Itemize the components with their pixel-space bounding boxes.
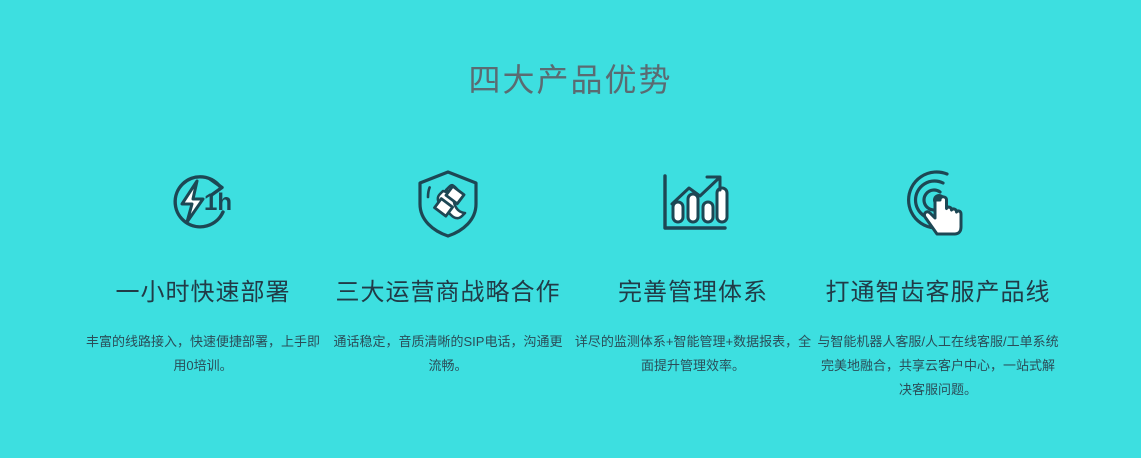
feature-title: 完善管理体系 — [618, 276, 768, 310]
feature-card-carrier-partnership[interactable]: 三大运营商战略合作 通话稳定，音质清晰的SIP电话，沟通更流畅。 — [326, 160, 571, 378]
touch-click-icon — [897, 160, 979, 248]
feature-title: 三大运营商战略合作 — [336, 276, 561, 310]
fast-deploy-icon-label: 1h — [204, 189, 232, 216]
page-title: 四大产品优势 — [0, 58, 1141, 102]
feature-title: 打通智齿客服产品线 — [826, 276, 1051, 310]
feature-description: 丰富的线路接入，快速便捷部署，上手即用0培训。 — [83, 330, 323, 378]
fast-deploy-icon: 1h — [161, 160, 245, 248]
bar-chart-growth-icon — [653, 160, 733, 248]
feature-card-fast-deploy[interactable]: 1h 一小时快速部署 丰富的线路接入，快速便捷部署，上手即用0培训。 — [81, 160, 326, 378]
product-advantages-section: 四大产品优势 1h 一小时快速部署 丰富的线路接入，快速便捷部署，上手即用0培训… — [0, 0, 1141, 458]
feature-description: 与智能机器人客服/人工在线客服/工单系统完美地融合，共享云客户中心，一站式解决客… — [817, 330, 1060, 402]
features-row: 1h 一小时快速部署 丰富的线路接入，快速便捷部署，上手即用0培训。 三大运营商… — [0, 160, 1141, 402]
feature-card-customer-service-line[interactable]: 打通智齿客服产品线 与智能机器人客服/人工在线客服/工单系统完美地融合，共享云客… — [816, 160, 1061, 402]
feature-card-management-system[interactable]: 完善管理体系 详尽的监测体系+智能管理+数据报表，全面提升管理效率。 — [571, 160, 816, 378]
shield-phone-icon — [408, 160, 488, 248]
feature-description: 通话稳定，音质清晰的SIP电话，沟通更流畅。 — [328, 330, 568, 378]
feature-title: 一小时快速部署 — [116, 276, 291, 310]
feature-description: 详尽的监测体系+智能管理+数据报表，全面提升管理效率。 — [573, 330, 813, 378]
